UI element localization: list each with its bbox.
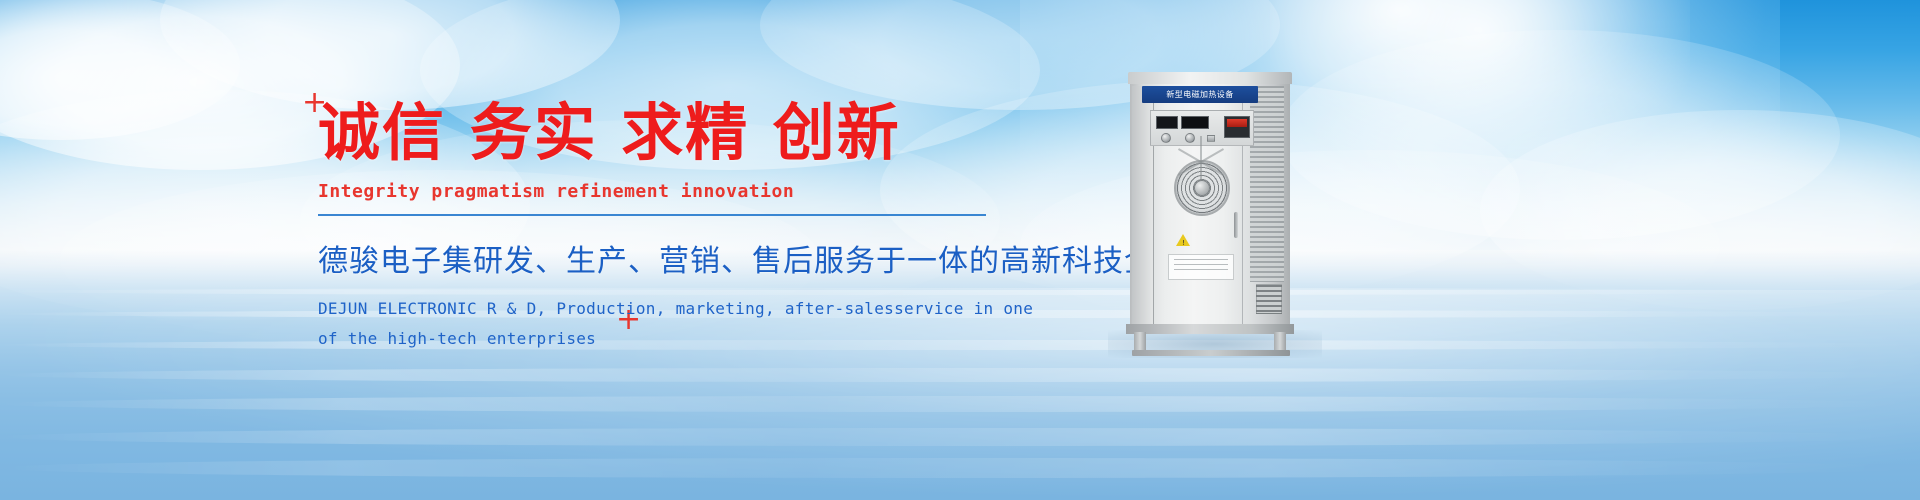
warning-symbol: !	[1182, 240, 1185, 247]
wave-streak	[0, 396, 1920, 412]
cabinet-base	[1126, 324, 1294, 334]
divider-rule	[318, 214, 986, 216]
subtitle-chinese: 德骏电子集研发、生产、营销、售后服务于一体的高新科技企业	[318, 236, 1078, 280]
wave-streak	[0, 428, 1920, 446]
fan-hub	[1194, 180, 1210, 196]
product-label-band: 新型电磁加热设备	[1142, 86, 1258, 103]
control-knob	[1185, 133, 1195, 143]
spec-plate	[1168, 254, 1234, 280]
door-handle	[1234, 212, 1238, 238]
fan-grille-icon	[1174, 160, 1230, 216]
headline-english: Integrity pragmatism refinement innovati…	[318, 181, 1078, 202]
cloud	[0, 0, 240, 140]
vent-grille-upper	[1250, 86, 1284, 282]
headline-chinese: 诚信 务实 求精 创新	[318, 96, 1078, 169]
vent-grille-lower	[1256, 284, 1282, 314]
cloud	[1280, 30, 1840, 240]
wave-streak	[0, 458, 1920, 478]
control-knob	[1161, 133, 1171, 143]
cabinet-rail	[1132, 350, 1290, 356]
cabinet-top-cap	[1128, 72, 1292, 84]
banner-copy: 诚信 务实 求精 创新 Integrity pragmatism refinem…	[318, 96, 1078, 353]
cloud	[160, 0, 620, 110]
cloud	[1480, 110, 1920, 310]
digital-readout-red-segment	[1227, 119, 1247, 127]
wave-streak	[0, 368, 1920, 382]
product-label-text: 新型电磁加热设备	[1166, 89, 1233, 100]
product-image-heating-equipment: 新型电磁加热设备 !	[1124, 62, 1304, 362]
meter-display-1	[1156, 116, 1178, 129]
sun-glow-core	[1270, 0, 1690, 180]
spec-plate-line	[1174, 259, 1228, 260]
subtitle-english-line2: of the high-tech enterprises	[318, 324, 1078, 354]
spec-plate-line	[1174, 264, 1228, 265]
subtitle-english-line1: DEJUN ELECTRONIC R & D, Production, mark…	[318, 294, 1078, 324]
meter-display-2	[1181, 116, 1209, 129]
toggle-switch	[1207, 135, 1215, 142]
promo-banner: + + 诚信 务实 求精 创新 Integrity pragmatism ref…	[0, 0, 1920, 500]
subtitle-english: DEJUN ELECTRONIC R & D, Production, mark…	[318, 294, 1078, 353]
spec-plate-line	[1174, 269, 1228, 270]
control-panel	[1150, 110, 1254, 146]
